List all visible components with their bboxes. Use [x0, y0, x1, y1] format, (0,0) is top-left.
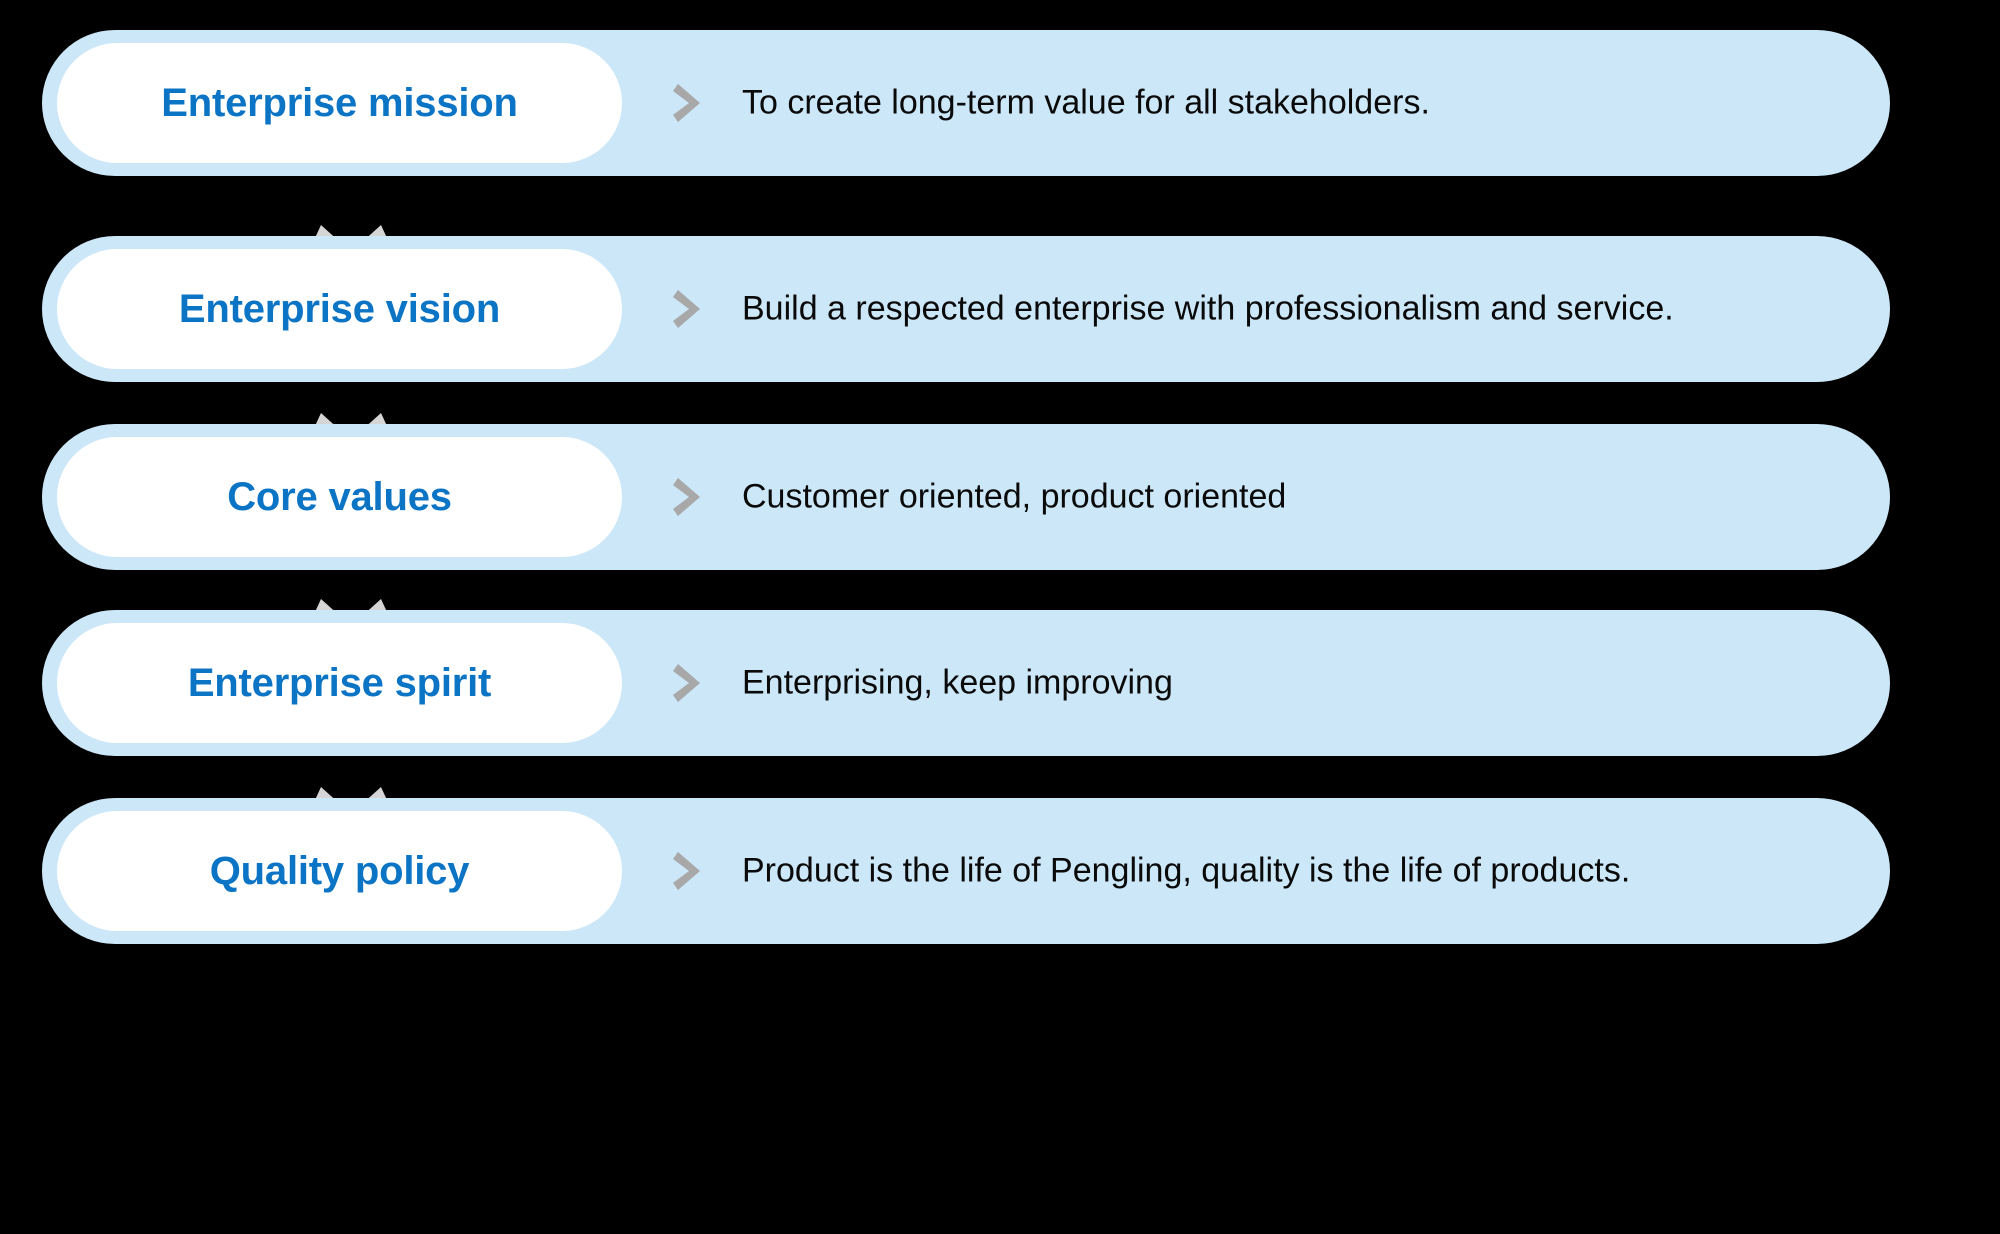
flow-row-label: Core values	[227, 477, 452, 517]
flow-row-label-pill[interactable]: Quality policy	[57, 811, 622, 931]
flow-row-description: Build a respected enterprise with profes…	[742, 289, 1830, 330]
chevron-right-icon	[672, 848, 706, 894]
chevron-right-icon	[672, 286, 706, 332]
flow-row[interactable]: Enterprise spirit Enterprising, keep imp…	[42, 610, 1890, 756]
flow-row-label: Enterprise mission	[161, 83, 518, 123]
flow-row-label: Enterprise vision	[179, 289, 500, 329]
flow-row[interactable]: Core values Customer oriented, product o…	[42, 424, 1890, 570]
flow-row[interactable]: Enterprise vision Build a respected ente…	[42, 236, 1890, 382]
flow-row-label-pill[interactable]: Enterprise vision	[57, 249, 622, 369]
flow-row-label-pill[interactable]: Enterprise spirit	[57, 623, 622, 743]
flow-row-label: Enterprise spirit	[188, 663, 491, 703]
flow-row-description: To create long-term value for all stakeh…	[742, 83, 1830, 124]
chevron-right-icon	[672, 474, 706, 520]
flow-row-description: Enterprising, keep improving	[742, 663, 1830, 704]
flow-row[interactable]: Quality policy Product is the life of Pe…	[42, 798, 1890, 944]
diagram-canvas: Enterprise mission To create long-term v…	[0, 0, 2000, 1234]
flow-row-description: Product is the life of Pengling, quality…	[742, 851, 1830, 892]
flow-row-label: Quality policy	[210, 851, 470, 891]
flow-row-description: Customer oriented, product oriented	[742, 477, 1830, 518]
chevron-right-icon	[672, 660, 706, 706]
flow-row-label-pill[interactable]: Core values	[57, 437, 622, 557]
enterprise-culture-flow: Enterprise mission To create long-term v…	[0, 0, 2000, 1234]
flow-row-label-pill[interactable]: Enterprise mission	[57, 43, 622, 163]
flow-row[interactable]: Enterprise mission To create long-term v…	[42, 30, 1890, 176]
chevron-right-icon	[672, 80, 706, 126]
